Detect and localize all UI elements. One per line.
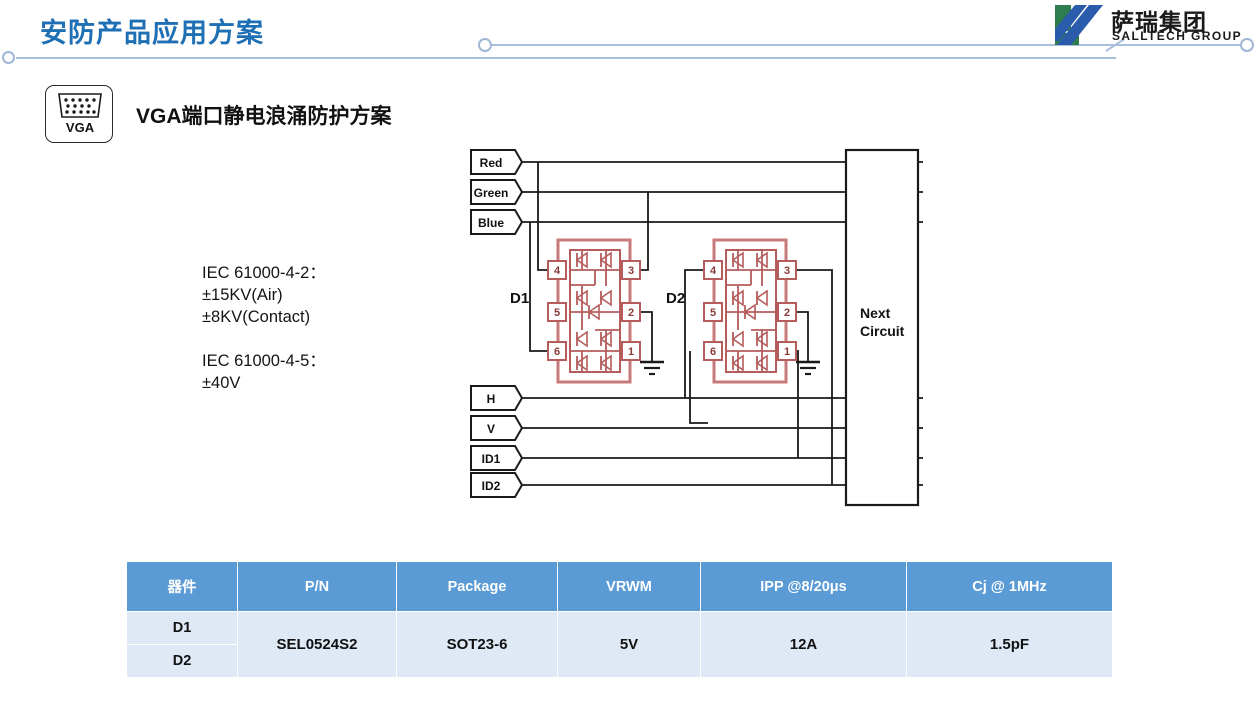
tvs-array-d1: 4 5 6 3 2 1 <box>548 240 640 382</box>
svg-text:1: 1 <box>784 346 790 358</box>
svg-text:3: 3 <box>628 265 634 277</box>
ground-symbol-d2 <box>796 362 820 374</box>
cell-ipp: 12A <box>701 612 907 678</box>
col-header-ipp: IPP @8/20μs <box>701 562 907 612</box>
vga-dsub-glyph <box>55 92 105 119</box>
svg-text:ID1: ID1 <box>482 452 501 466</box>
svg-text:H: H <box>487 392 496 406</box>
vga-icon-label: VGA <box>46 120 114 135</box>
svg-text:6: 6 <box>710 346 716 358</box>
svg-text:Red: Red <box>480 156 503 170</box>
svg-text:Green: Green <box>474 186 509 200</box>
device-label-d1: D1 <box>510 290 529 307</box>
cell-vrwm: 5V <box>558 612 701 678</box>
col-header-cj: Cj @ 1MHz <box>907 562 1113 612</box>
deco-circle-middle <box>478 38 492 52</box>
cell-device-d1: D1 <box>127 612 238 645</box>
signal-label-tags: Red Green Blue H V ID1 ID2 <box>471 150 522 497</box>
svg-text:3: 3 <box>784 265 790 277</box>
svg-text:4: 4 <box>554 265 561 277</box>
deco-circle-left <box>2 51 15 64</box>
svg-text:V: V <box>487 422 495 436</box>
svg-text:Blue: Blue <box>478 216 504 230</box>
svg-text:5: 5 <box>554 307 560 319</box>
device-spec-table: 器件 P/N Package VRWM IPP @8/20μs Cj @ 1MH… <box>126 561 1113 678</box>
page-title: 安防产品应用方案 <box>40 11 264 50</box>
next-circuit-block: Next Circuit <box>846 150 918 505</box>
page-header: 安防产品应用方案 萨瑞集团 SALLTECH GROUP <box>0 0 1256 72</box>
col-header-vrwm: VRWM <box>558 562 701 612</box>
cell-device-d2: D2 <box>127 645 238 678</box>
svg-text:Next: Next <box>860 305 891 321</box>
col-header-device: 器件 <box>127 562 238 612</box>
protection-circuit-schematic: Red Green Blue H V ID1 ID2 <box>460 140 940 520</box>
svg-text:4: 4 <box>710 265 717 277</box>
cell-cj: 1.5pF <box>907 612 1113 678</box>
vga-connector-icon: VGA <box>45 85 113 143</box>
tvs-array-d2: 4 5 6 3 2 1 <box>704 240 796 382</box>
company-logo: 萨瑞集团 SALLTECH GROUP <box>1055 3 1255 49</box>
svg-text:2: 2 <box>784 307 790 319</box>
deco-line-lower <box>16 57 1116 59</box>
device-label-d2: D2 <box>666 290 685 307</box>
ground-symbol-d1 <box>640 362 664 374</box>
cell-package: SOT23-6 <box>397 612 558 678</box>
svg-text:2: 2 <box>628 307 634 319</box>
svg-text:5: 5 <box>710 307 716 319</box>
section-title: VGA端口静电浪涌防护方案 <box>136 100 392 130</box>
cell-pn: SEL0524S2 <box>238 612 397 678</box>
svg-text:ID2: ID2 <box>482 479 501 493</box>
col-header-package: Package <box>397 562 558 612</box>
col-header-pn: P/N <box>238 562 397 612</box>
svg-text:1: 1 <box>628 346 634 358</box>
salltech-logo-mark <box>1055 5 1103 45</box>
iec-spec-text: IEC 61000-4-2： ±15KV(Air) ±8KV(Contact) … <box>202 262 326 394</box>
svg-text:6: 6 <box>554 346 560 358</box>
table-row: D1 SEL0524S2 SOT23-6 5V 12A 1.5pF <box>127 612 1113 645</box>
logo-text-en: SALLTECH GROUP <box>1112 29 1242 43</box>
table-header-row: 器件 P/N Package VRWM IPP @8/20μs Cj @ 1MH… <box>127 562 1113 612</box>
svg-text:Circuit: Circuit <box>860 323 905 339</box>
